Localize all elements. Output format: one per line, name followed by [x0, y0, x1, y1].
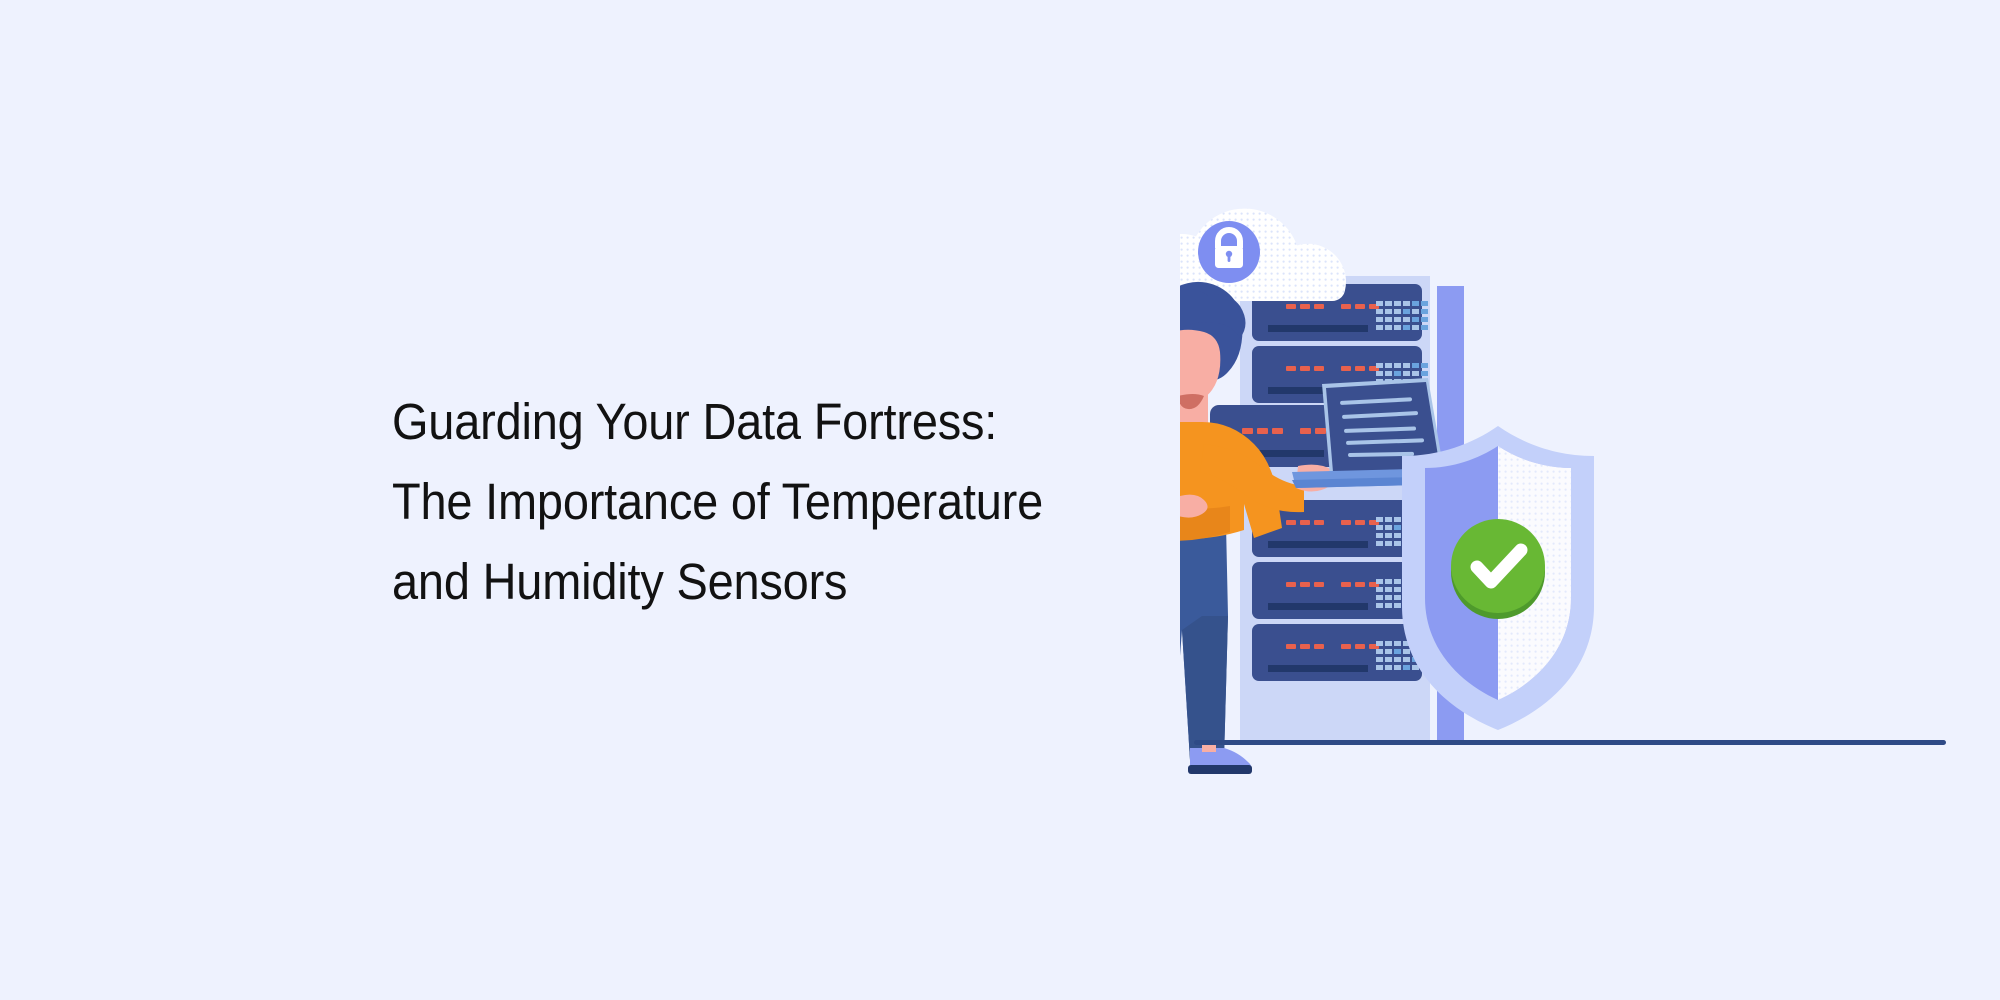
shield-check-badge: [1402, 426, 1594, 730]
page-title-line-1: Guarding Your Data Fortress:: [392, 382, 1146, 462]
page-title: Guarding Your Data Fortress: The Importa…: [392, 382, 1146, 622]
data-center-security-illustration: [1180, 200, 1980, 780]
server-unit: [1252, 562, 1428, 619]
illustration-svg: [1180, 200, 1980, 780]
hero-banner: Guarding Your Data Fortress: The Importa…: [0, 0, 2000, 1000]
page-title-line-2: The Importance of Temperature: [392, 462, 1146, 542]
server-unit: [1252, 624, 1428, 681]
ground-line: [1194, 740, 1946, 745]
face: [1180, 330, 1220, 402]
page-title-line-3: and Humidity Sensors: [392, 542, 1146, 622]
padlock-icon: [1198, 221, 1260, 283]
